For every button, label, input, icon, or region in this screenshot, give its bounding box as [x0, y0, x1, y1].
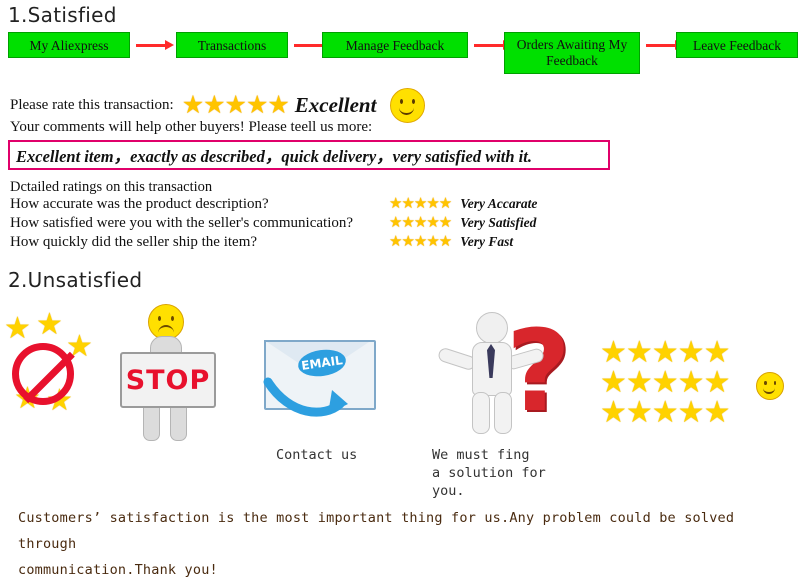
detail-label-3: Very Fast [460, 234, 513, 250]
overall-star-rating[interactable]: ★★★★★ [182, 93, 289, 118]
stop-man-head-icon [148, 304, 184, 340]
detail-stars-1[interactable]: ★★★★★ [389, 197, 451, 212]
detail-stars-2[interactable]: ★★★★★ [389, 216, 451, 231]
detail-question-2: How satisfied were you with the seller's… [10, 215, 353, 232]
detail-rating-row-1: ★★★★★ Very Accarate [389, 196, 537, 212]
star-grid-row-1: ★★★★★ [600, 338, 760, 368]
no-bad-rating-illustration: ★ ★ ★ ★ ★ [4, 314, 104, 424]
comment-text-value: Excellent item，exactly as described，quic… [16, 143, 532, 167]
prohibition-icon [12, 343, 74, 405]
detail-label-2: Very Satisfied [460, 215, 536, 231]
star-grid-row-3: ★★★★★ [600, 398, 760, 428]
question-man-head [476, 312, 508, 344]
detail-question-3: How quickly did the seller ship the item… [10, 234, 257, 251]
comment-input-box[interactable]: Excellent item，exactly as described，quic… [8, 140, 610, 170]
section-title-unsatisfied: 2.Unsatisfied [8, 268, 142, 292]
footer-line-2: communication.Thank you! [18, 557, 782, 583]
question-mark-icon: ? [506, 316, 571, 428]
detail-label-1: Very Accarate [460, 196, 537, 212]
detail-stars-3[interactable]: ★★★★★ [389, 235, 451, 250]
illustration-row: ★ ★ ★ ★ ★ STOP EMAIL [0, 300, 800, 460]
caption-solution-line1: We must fing [432, 446, 546, 464]
step-transactions[interactable]: Transactions [176, 32, 288, 58]
footer-message: Customers’ satisfaction is the most impo… [18, 505, 782, 583]
stop-man-illustration: STOP [112, 304, 222, 444]
section-title-satisfied: 1.Satisfied [8, 3, 117, 27]
cluster-star-2: ★ [36, 310, 63, 340]
caption-solution-line3: you. [432, 482, 546, 500]
question-man-leg-right [494, 392, 512, 434]
star-grid-row-2: ★★★★★ [600, 368, 760, 398]
stop-sign-icon: STOP [120, 352, 216, 408]
stop-sign-label: STOP [126, 365, 211, 396]
small-smiley-icon [756, 372, 784, 400]
comment-prompt-label: Your comments will help other buyers! Pl… [10, 119, 372, 136]
detail-question-1: How accurate was the product description… [10, 196, 269, 213]
cluster-star-1: ★ [4, 314, 31, 344]
rate-transaction-row: Please rate this transaction: ★★★★★ Exce… [10, 88, 425, 123]
step-orders-awaiting-feedback[interactable]: Orders Awaiting My Feedback [504, 32, 640, 74]
step-my-aliexpress[interactable]: My Aliexpress [8, 32, 130, 58]
breadcrumb-steps: My Aliexpress Transactions Manage Feedba… [8, 32, 794, 60]
feedback-instruction-page: 1.Satisfied My Aliexpress Transactions M… [0, 0, 800, 572]
five-star-grid: ★★★★★ ★★★★★ ★★★★★ [600, 338, 760, 428]
step-manage-feedback[interactable]: Manage Feedback [322, 32, 468, 58]
caption-contact-us: Contact us [276, 446, 357, 464]
rate-prompt-label: Please rate this transaction: [10, 97, 174, 114]
overall-rating-verdict: Excellent [295, 93, 377, 118]
question-man-leg-left [472, 392, 490, 434]
email-envelope-illustration: EMAIL [258, 326, 382, 422]
detail-rating-row-2: ★★★★★ Very Satisfied [389, 215, 536, 231]
detailed-ratings-heading: Dctailed ratings on this transaction [10, 179, 212, 196]
email-arrow-icon [260, 376, 350, 420]
detail-rating-row-3: ★★★★★ Very Fast [389, 234, 513, 250]
footer-line-1: Customers’ satisfaction is the most impo… [18, 505, 782, 557]
step-leave-feedback[interactable]: Leave Feedback [676, 32, 798, 58]
question-man-illustration: ? [410, 300, 585, 440]
caption-solution-line2: a solution for [432, 464, 546, 482]
smiley-face-icon [390, 88, 425, 123]
step-arrow-1 [136, 40, 174, 50]
caption-solution: We must fing a solution for you. [432, 446, 546, 500]
